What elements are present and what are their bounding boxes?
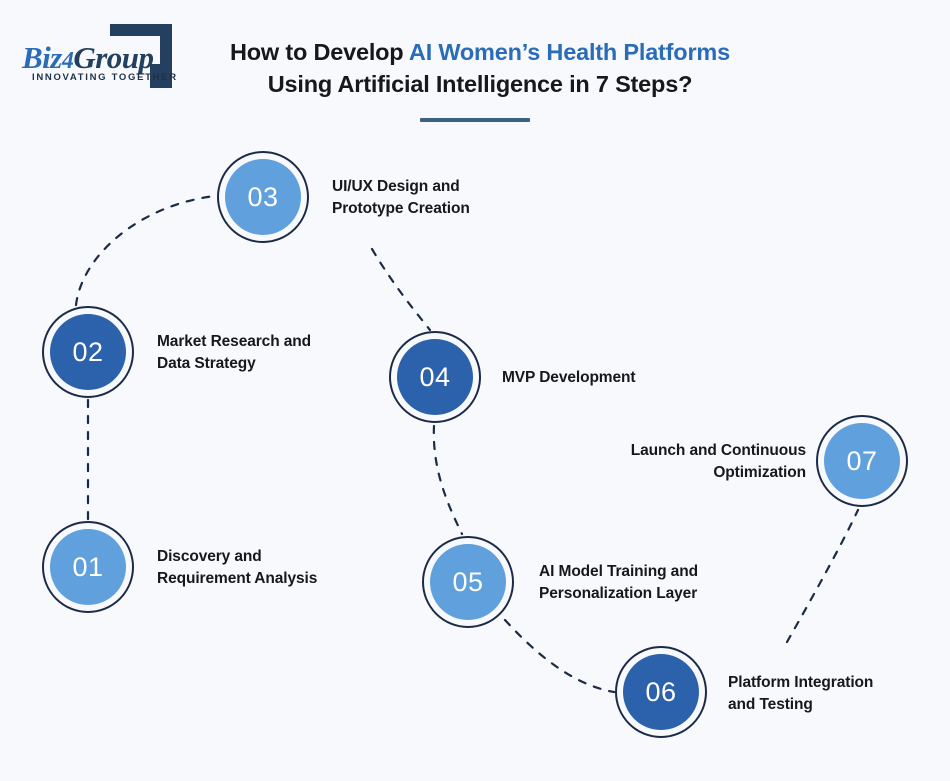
step-label-02: Market Research and Data Strategy <box>157 331 362 374</box>
step-number-01: 01 <box>50 529 126 605</box>
step-number-07: 07 <box>824 423 900 499</box>
step-number-03: 03 <box>225 159 301 235</box>
connector-02-03 <box>76 196 215 305</box>
step-circle-07: 07 <box>816 415 908 507</box>
connector-03-04 <box>372 249 430 330</box>
step-label-04: MVP Development <box>502 367 702 389</box>
connector-06-07 <box>787 510 858 642</box>
step-flow-diagram: 01 Discovery and Requirement Analysis 02… <box>0 0 950 781</box>
step-number-04: 04 <box>397 339 473 415</box>
connector-04-05 <box>434 426 462 534</box>
step-label-06: Platform Integration and Testing <box>728 672 928 715</box>
step-circle-03: 03 <box>217 151 309 243</box>
step-label-05: AI Model Training and Personalization La… <box>539 561 744 604</box>
step-circle-05: 05 <box>422 536 514 628</box>
step-circle-06: 06 <box>615 646 707 738</box>
step-label-07: Launch and Continuous Optimization <box>581 440 806 483</box>
step-circle-02: 02 <box>42 306 134 398</box>
connector-05-06 <box>505 620 614 692</box>
step-circle-04: 04 <box>389 331 481 423</box>
step-number-02: 02 <box>50 314 126 390</box>
step-circle-01: 01 <box>42 521 134 613</box>
step-label-03: UI/UX Design and Prototype Creation <box>332 176 527 219</box>
step-number-05: 05 <box>430 544 506 620</box>
step-number-06: 06 <box>623 654 699 730</box>
step-label-01: Discovery and Requirement Analysis <box>157 546 367 589</box>
